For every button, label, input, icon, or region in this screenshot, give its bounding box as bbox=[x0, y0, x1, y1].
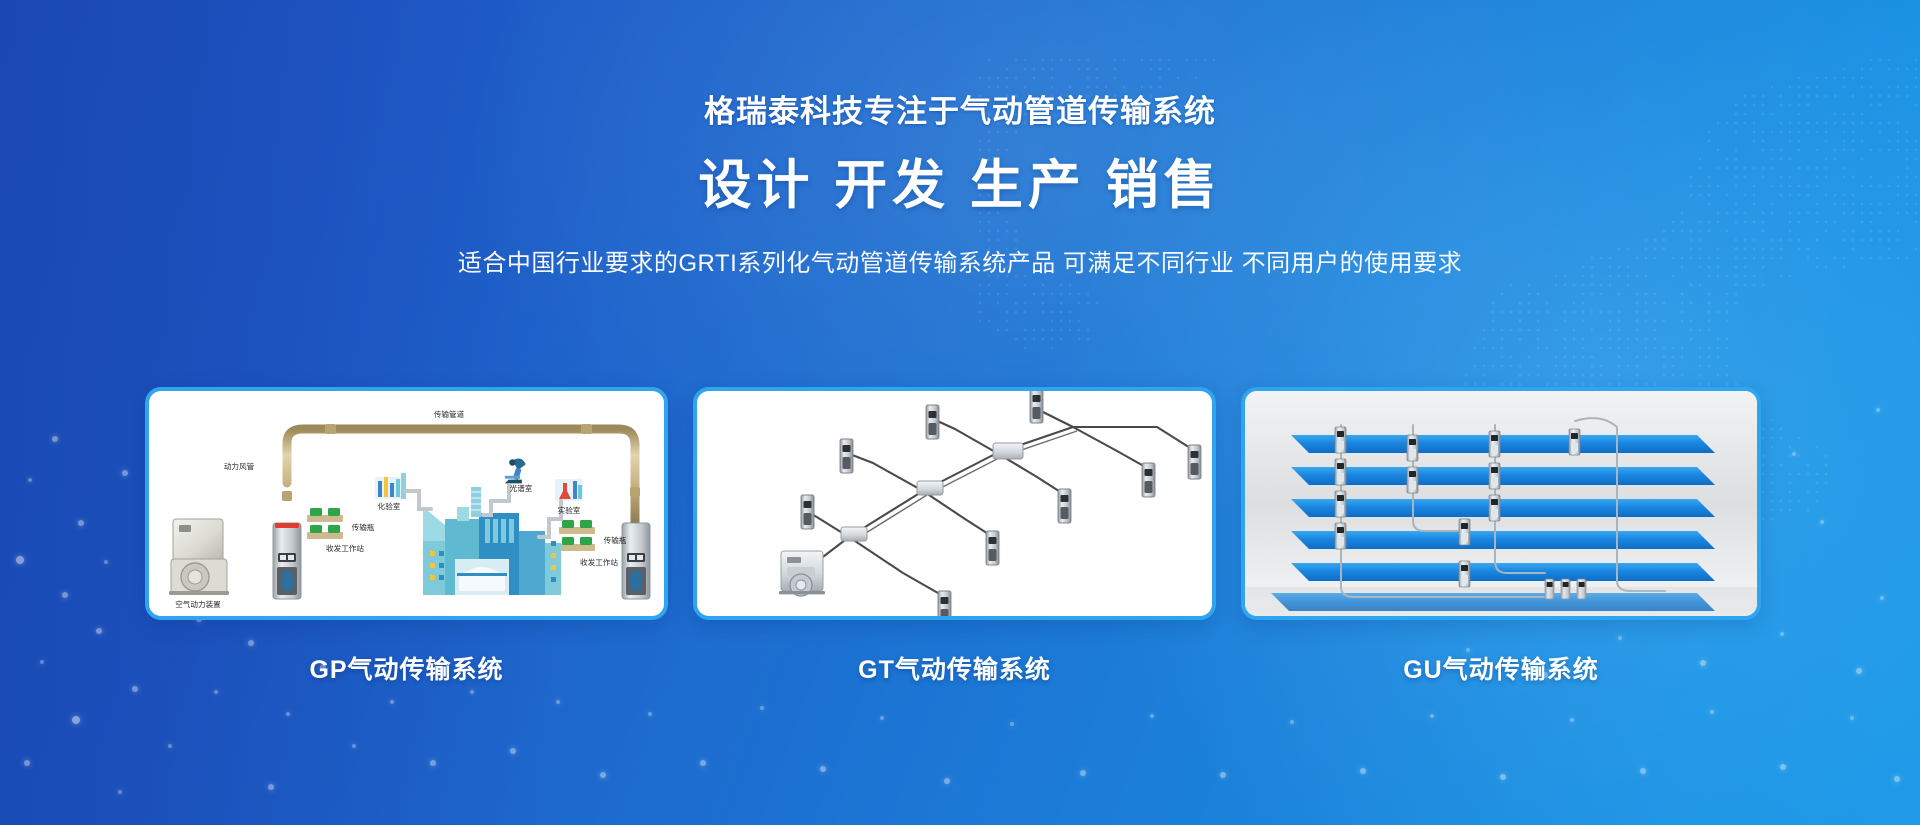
card-caption-row: GP气动传输系统 GT气动传输系统 GU气动传输系统 bbox=[145, 648, 1785, 688]
hero-banner: 格瑞泰科技专注于气动管道传输系统 设计 开发 生产 销售 适合中国行业要求的GR… bbox=[0, 0, 1920, 825]
gp-label-station-left: 收发工作站 bbox=[326, 543, 364, 553]
gp-label-station-right: 收发工作站 bbox=[580, 557, 618, 567]
headings-block: 格瑞泰科技专注于气动管道传输系统 设计 开发 生产 销售 适合中国行业要求的GR… bbox=[0, 92, 1920, 281]
caption-gt: GT气动传输系统 bbox=[693, 648, 1216, 688]
product-card-gu[interactable] bbox=[1241, 387, 1761, 620]
product-card-row: 传输管道 动力风管 空气动力装置 传输瓶 收发工作站 传输瓶 收发工作站 化验室… bbox=[145, 387, 1785, 620]
gu-diagram bbox=[1245, 391, 1757, 616]
gp-diagram: 传输管道 动力风管 空气动力装置 传输瓶 收发工作站 传输瓶 收发工作站 化验室… bbox=[149, 391, 664, 616]
gp-label-power-duct: 动力风管 bbox=[224, 461, 255, 471]
banner-subline: 适合中国行业要求的GRTI系列化气动管道传输系统产品 可满足不同行业 不同用户的… bbox=[0, 247, 1920, 281]
gp-label-laboratory: 实验室 bbox=[558, 505, 581, 515]
banner-eyebrow: 格瑞泰科技专注于气动管道传输系统 bbox=[0, 92, 1920, 132]
product-card-gp[interactable]: 传输管道 动力风管 空气动力装置 传输瓶 收发工作站 传输瓶 收发工作站 化验室… bbox=[145, 387, 668, 620]
caption-gu: GU气动传输系统 bbox=[1241, 648, 1761, 688]
gt-diagram bbox=[697, 391, 1212, 616]
product-card-gt[interactable] bbox=[693, 387, 1216, 620]
banner-headline: 设计 开发 生产 销售 bbox=[0, 154, 1920, 218]
gp-label-carrier-left: 传输瓶 bbox=[352, 522, 375, 532]
caption-gp: GP气动传输系统 bbox=[145, 648, 668, 688]
gp-label-carrier-right: 传输瓶 bbox=[604, 535, 627, 545]
gp-label-air-power-unit: 空气动力装置 bbox=[175, 599, 221, 609]
gp-label-transport-pipe: 传输管道 bbox=[434, 409, 465, 419]
gp-label-chem-lab: 化验室 bbox=[378, 501, 401, 511]
gp-label-spectro-room: 光谱室 bbox=[510, 483, 533, 493]
